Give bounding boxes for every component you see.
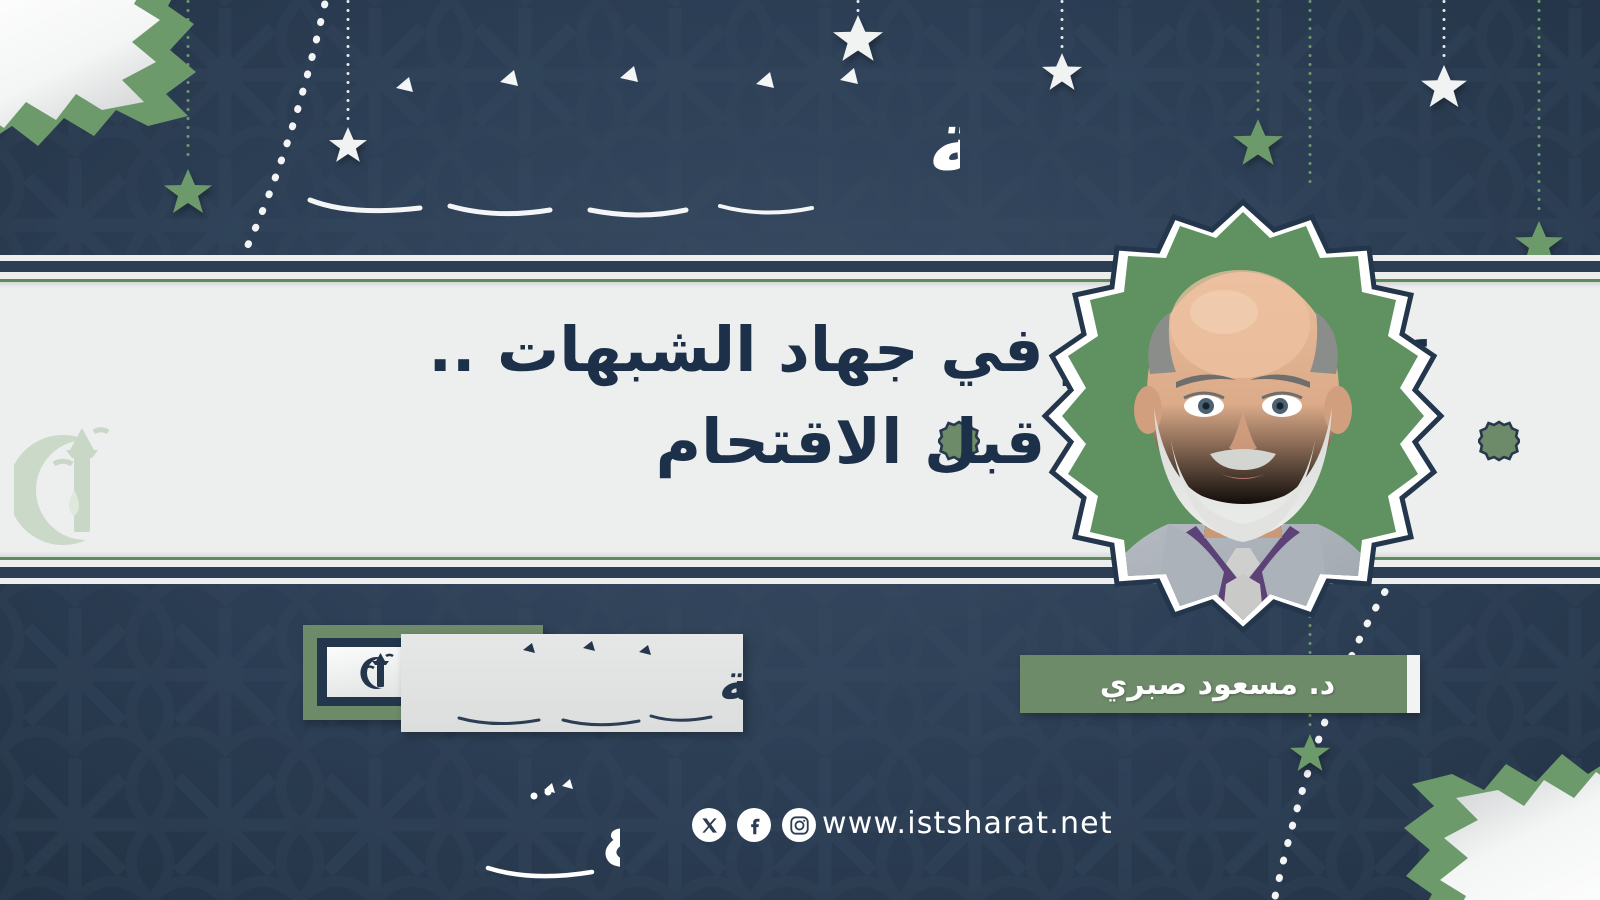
brand-logo-calligraphy: المجتمع xyxy=(470,776,620,885)
footer-bar: المجتمع المجتمع xyxy=(470,770,1130,885)
category-badge-plate: استشارات فقهية xyxy=(401,634,743,732)
category-badge-calligraphy: استشارات فقهية xyxy=(716,653,743,713)
website-url[interactable]: www.istsharat.net xyxy=(822,806,1113,841)
header-calligraphy: بوابة الاستشارات الإلكترونية xyxy=(200,60,960,220)
mosque-crescent-emblem-watermark xyxy=(14,420,134,554)
social-links xyxy=(692,808,816,842)
nameplate-tick xyxy=(1407,655,1420,713)
header-calligraphy-text: بوابة الاستشارات الإلكترونية xyxy=(924,90,960,194)
speaker-name: د. مسعود صبري xyxy=(1020,667,1407,702)
svg-text:المجتمع: المجتمع xyxy=(600,794,620,867)
speaker-nameplate: د. مسعود صبري xyxy=(1020,655,1420,713)
corner-ornament-top-left xyxy=(0,0,288,217)
facebook-icon[interactable] xyxy=(737,808,771,842)
category-badge: استشارات فقهية استشارات فقهية xyxy=(303,625,743,740)
rosette-right-edge xyxy=(1478,420,1520,466)
x-twitter-icon[interactable] xyxy=(692,808,726,842)
promo-card-canvas: بوابة الاستشارات الإلكترونية بوابة الاست… xyxy=(0,0,1600,900)
corner-ornament-bottom-right xyxy=(1312,683,1600,900)
portrait-frame: portrait of a bearded man in grey suit, … xyxy=(1018,196,1468,652)
instagram-icon[interactable] xyxy=(782,808,816,842)
